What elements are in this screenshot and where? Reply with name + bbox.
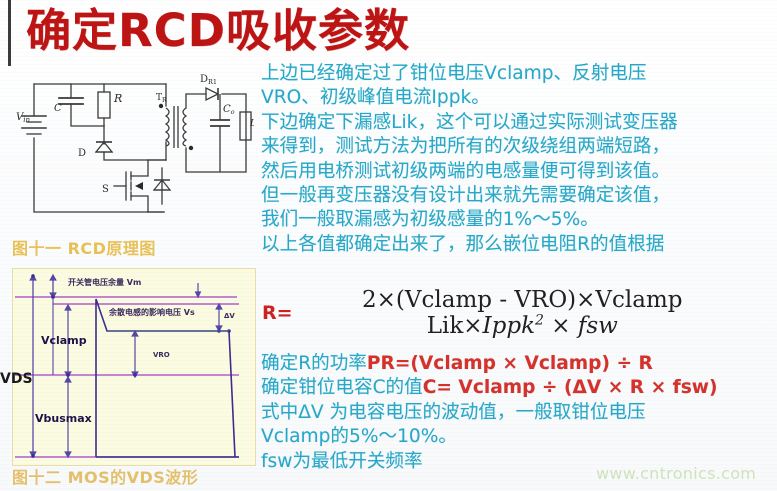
figure-vds-waveform: 开关管电压余量 Vm 余散电感的影响电压 Vs Vclamp VRO Vbusm… xyxy=(12,268,256,466)
body-top-line-2-run-0: 下边确定下漏感Lik，这个可以通过实际测试变压器 xyxy=(261,112,678,133)
body-bottom-line-4-run-0: fsw为最低开关频率 xyxy=(261,451,423,472)
body-bottom-line-0: 确定R的功率PR=(Vclamp × Vclamp) ÷ R xyxy=(261,352,773,376)
body-bottom-line-2-run-0: 式中ΔV 为电容电压的波动值，一般取钳位电压 xyxy=(261,402,646,423)
formula-denominator: Lik×Ippk2 × fsw xyxy=(419,311,626,339)
label-load: L xyxy=(249,119,254,129)
circuit-schematic-svg: Vin C R D TR DR1 Co L S xyxy=(14,64,254,232)
body-top-line-2: 下边确定下漏感Lik，这个可以通过实际测试变压器 xyxy=(261,111,773,135)
body-bottom-line-2: 式中ΔV 为电容电压的波动值，一般取钳位电压 xyxy=(261,401,773,425)
title-left-rule xyxy=(8,0,11,66)
body-top-line-0: 上边已经确定过了钳位电压Vclamp、反射电压 xyxy=(261,62,773,86)
label-d: D xyxy=(78,148,86,159)
watermark: www.cntronics.com xyxy=(596,464,756,483)
formula-fraction: 2×(Vclamp - VRO)×Vclamp Lik×Ippk2 × fsw xyxy=(303,287,742,340)
formula-lhs: R= xyxy=(262,302,293,324)
waveform-svg xyxy=(13,269,255,465)
body-top-line-1-run-0: VRO、初级峰值电流Ippk。 xyxy=(261,87,490,108)
waveform-label-delta-v: ΔV xyxy=(224,312,235,320)
waveform-label-vbusmax: Vbusmax xyxy=(35,412,92,425)
denominator-ippk: Ippk xyxy=(483,313,535,339)
label-c: C xyxy=(54,103,62,114)
body-bottom-line-3: Vclamp的5%～10%。 xyxy=(261,425,773,449)
body-text-top: 上边已经确定过了钳位电压Vclamp、反射电压VRO、初级峰值电流Ippk。下边… xyxy=(261,62,773,257)
body-top-line-4: 然后用电桥测试初级两端的电感量便可得到该值。 xyxy=(261,160,773,184)
body-top-line-5-run-0: 但一般再变压器没有设计出来就先需要确定该值， xyxy=(261,185,670,206)
denominator-exponent: 2 xyxy=(535,313,544,329)
denominator-times: × xyxy=(544,313,578,339)
body-top-line-5: 但一般再变压器没有设计出来就先需要确定该值， xyxy=(261,184,773,208)
page-title: 确定RCD吸收参数 xyxy=(26,2,410,60)
body-bottom-line-1-run-0: 确定钳位电容C的值 xyxy=(261,377,423,398)
label-output-diode: DR1 xyxy=(200,74,217,86)
waveform-axis-label-vds: VDS xyxy=(0,371,33,387)
body-top-line-6-run-0: 我们一般取漏感为初级感量的1%～5%。 xyxy=(261,209,599,230)
body-bottom-line-0-run-1: PR=(Vclamp × Vclamp) ÷ R xyxy=(367,353,653,374)
body-text-bottom: 确定R的功率PR=(Vclamp × Vclamp) ÷ R确定钳位电容C的值C… xyxy=(261,352,773,474)
waveform-label-vm: 开关管电压余量 Vm xyxy=(68,277,141,288)
waveform-label-vro: VRO xyxy=(153,351,170,359)
body-bottom-line-1: 确定钳位电容C的值C= Vclamp ÷ (ΔV × R × fsw) xyxy=(261,376,773,400)
body-top-line-3-run-0: 来得到，测试方法为把所有的次级绕组两端短路， xyxy=(261,136,670,157)
figure-rcd-circuit: Vin C R D TR DR1 Co L S xyxy=(14,64,254,232)
figure-caption-circuit: 图十一 RCD原理图 xyxy=(12,235,156,259)
waveform-label-vclamp: Vclamp xyxy=(41,334,87,347)
slide-page: 确定RCD吸收参数 xyxy=(0,0,777,491)
body-top-line-7: 以上各值都确定出来了，那么嵌位电阻R的值根据 xyxy=(261,233,773,257)
body-top-line-4-run-0: 然后用电桥测试初级两端的电感量便可得到该值。 xyxy=(261,161,670,182)
body-bottom-line-0-run-0: 确定R的功率 xyxy=(261,353,367,374)
denominator-fsw: fsw xyxy=(578,313,618,339)
body-top-line-3: 来得到，测试方法为把所有的次级绕组两端短路， xyxy=(261,135,773,159)
body-top-line-1: VRO、初级峰值电流Ippk。 xyxy=(261,86,773,110)
figure-caption-waveform: 图十二 MOS的VDS波形 xyxy=(12,464,198,488)
formula-resistor: R= 2×(Vclamp - VRO)×Vclamp Lik×Ippk2 × f… xyxy=(262,280,742,346)
body-top-line-7-run-0: 以上各值都确定出来了，那么嵌位电阻R的值根据 xyxy=(261,234,664,255)
waveform-label-vs: 余散电感的影响电压 Vs xyxy=(109,307,195,318)
body-bottom-line-3-run-0: Vclamp的5%～10%。 xyxy=(261,426,457,447)
label-vin: Vin xyxy=(16,112,30,124)
body-top-line-0-run-0: 上边已经确定过了钳位电压Vclamp、反射电压 xyxy=(261,63,647,84)
body-bottom-line-1-run-1: C= Vclamp ÷ (ΔV × R × fsw) xyxy=(423,377,718,398)
label-output-cap: Co xyxy=(223,104,235,116)
label-switch: S xyxy=(102,184,109,195)
denominator-lik: Lik× xyxy=(427,313,483,339)
label-r: R xyxy=(113,92,122,105)
body-top-line-6: 我们一般取漏感为初级感量的1%～5%。 xyxy=(261,208,773,232)
